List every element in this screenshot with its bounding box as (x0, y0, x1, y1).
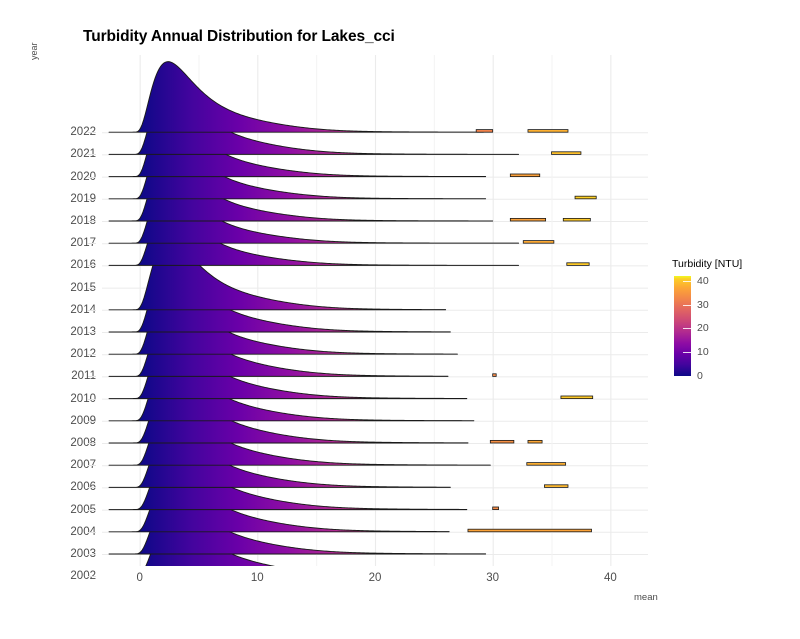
x-tick-label-20: 20 (369, 572, 382, 584)
ridge-tail-segment (567, 263, 589, 266)
ridge-tail-segment (476, 130, 492, 133)
legend-tick-label-20: 20 (697, 322, 709, 334)
legend-tick-mark (683, 376, 691, 377)
x-axis-title: mean (634, 592, 658, 603)
ridge-tail-segment (493, 507, 499, 510)
y-tick-mark (88, 221, 96, 222)
ridge-tail-segment (563, 218, 590, 221)
legend-tick-mark (683, 352, 691, 353)
x-tick-label-40: 40 (604, 572, 617, 584)
y-tick-mark (88, 399, 96, 400)
plot-panel (102, 55, 648, 566)
x-axis-ticks: 010203040 (0, 572, 800, 590)
ridge-tail-segment (523, 241, 554, 244)
y-tick-mark (88, 376, 96, 377)
y-tick-mark (88, 487, 96, 488)
y-tick-mark (88, 532, 96, 533)
chart-canvas: Turbidity Annual Distribution for Lakes_… (0, 0, 800, 639)
y-axis-ticks: 2022202120202019201820172016201520142013… (0, 55, 96, 566)
ridge-tail-segment (527, 463, 566, 466)
y-tick-mark (88, 332, 96, 333)
legend-tick-label-30: 30 (697, 299, 709, 311)
y-tick-mark (88, 510, 96, 511)
colorbar-gradient (674, 276, 691, 376)
ridge-tail-segment (552, 152, 581, 155)
y-tick-mark (88, 421, 96, 422)
legend: Turbidity [NTU] 010203040 (672, 258, 792, 376)
legend-tick-label-10: 10 (697, 346, 709, 358)
ridge-tail-segment (561, 396, 593, 399)
page-title: Turbidity Annual Distribution for Lakes_… (83, 28, 395, 46)
ridge-tail-segment (510, 218, 545, 221)
ridge-tail-segment (493, 374, 497, 377)
x-tick-label-10: 10 (251, 572, 264, 584)
y-tick-mark (88, 177, 96, 178)
ridge-tail-segment (528, 130, 568, 133)
ridgeline-plot (102, 55, 648, 566)
y-tick-mark (88, 199, 96, 200)
legend-tick-mark (683, 305, 691, 306)
y-tick-mark (88, 154, 96, 155)
legend-tick-mark (683, 328, 691, 329)
legend-tick-label-40: 40 (697, 275, 709, 287)
ridge-tail-segment (468, 529, 592, 532)
y-tick-mark (88, 443, 96, 444)
y-tick-mark (88, 310, 96, 311)
ridge-2022 (109, 62, 568, 133)
legend-tick-mark (683, 281, 691, 282)
ridge-tail-segment (544, 485, 568, 488)
y-tick-mark (88, 132, 96, 133)
x-tick-label-30: 30 (486, 572, 499, 584)
y-tick-mark (88, 288, 96, 289)
y-tick-mark (88, 465, 96, 466)
legend-tick-label-0: 0 (697, 370, 703, 382)
ridge-tail-segment (575, 196, 596, 199)
y-tick-mark (88, 354, 96, 355)
y-tick-mark (88, 243, 96, 244)
legend-title: Turbidity [NTU] (672, 258, 792, 270)
ridge-tail-segment (490, 440, 514, 443)
legend-colorbar-body: 010203040 (672, 276, 792, 376)
ridge-tail-segment (510, 174, 539, 177)
ridge-tail-segment (528, 440, 542, 443)
x-tick-label-0: 0 (136, 572, 142, 584)
ridge-area (109, 62, 483, 133)
y-tick-mark (88, 554, 96, 555)
y-tick-mark (88, 265, 96, 266)
